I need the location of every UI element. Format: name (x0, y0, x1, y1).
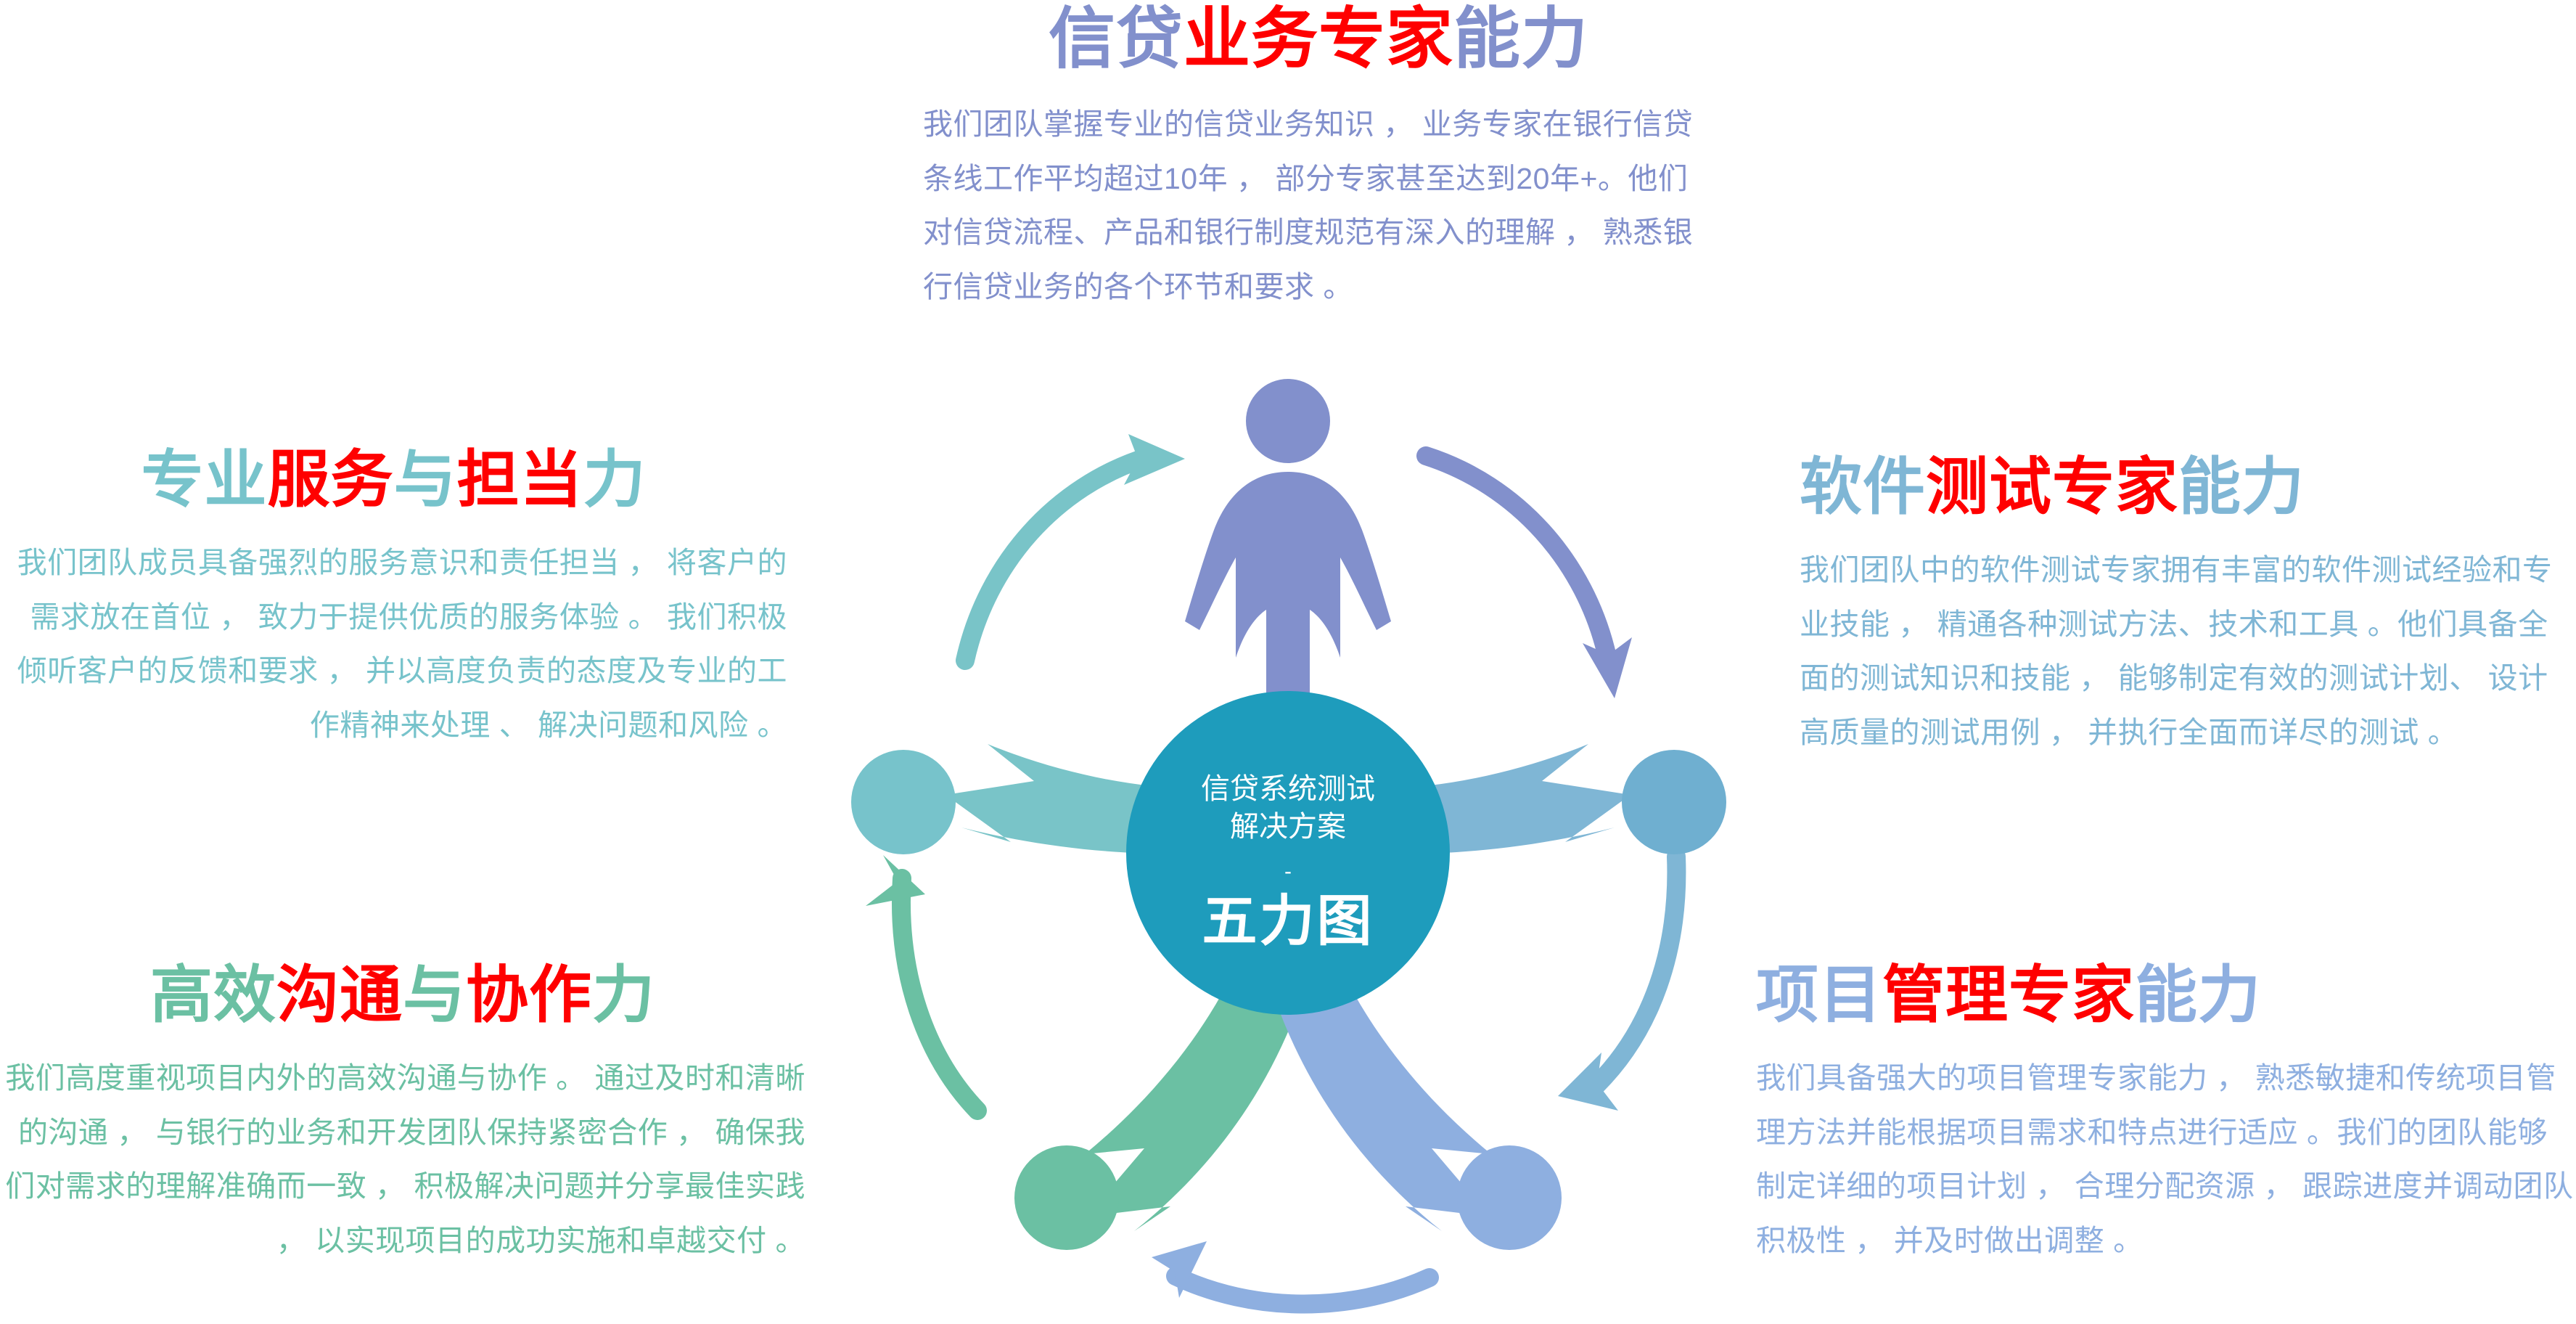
heading-professional-service: 专业服务与担当力 (0, 449, 787, 511)
heading-software-testing-expertise: 软件测试专家能力 (1800, 456, 2576, 518)
heading-segment-2: 能力 (1453, 2, 1588, 76)
hub-separator: - (1284, 859, 1292, 883)
heading-segment-3: 协作 (466, 960, 592, 1030)
heading-segment-4: 力 (592, 960, 655, 1030)
block-communication-collaboration: 高效沟通与协作力 我们高度重视项目内外的高效沟通与协作 。 通过及时和清晰的沟通… (0, 964, 805, 1267)
block-professional-service: 专业服务与担当力 我们团队成员具备强烈的服务意识和责任担当 ， 将客户的需求放在… (0, 449, 787, 752)
heading-segment-2: 能力 (2135, 960, 2261, 1030)
hub-title: 五力图 (1202, 891, 1374, 952)
infographic-canvas: 信贷系统测试 解决方案 - 五力图 信贷业务专家能力 我们团队掌握专业的信贷业务… (0, 0, 2576, 1324)
outer-arrow-left-to-top (965, 434, 1185, 661)
heading-segment-1: 服务 (268, 445, 394, 515)
outer-arrow-top-to-right (1426, 456, 1632, 698)
heading-segment-3: 担当 (457, 445, 583, 515)
heading-segment-0: 项目 (1756, 960, 1882, 1030)
node-right-circle (1622, 750, 1726, 854)
block-software-testing-expertise: 软件测试专家能力 我们团队中的软件测试专家拥有丰富的软件测试经验和专业技能 ， … (1800, 456, 2576, 759)
five-forces-diagram: 信贷系统测试 解决方案 - 五力图 (816, 377, 1760, 1321)
node-bottomright-circle (1457, 1145, 1562, 1250)
node-bottomleft-circle (1014, 1145, 1119, 1250)
heading-segment-1: 业务专家 (1184, 2, 1453, 76)
heading-segment-4: 力 (583, 445, 647, 515)
block-credit-business-expertise: 信贷业务专家能力 我们团队掌握专业的信贷业务知识 ， 业务专家在银行信贷条线工作… (923, 6, 1714, 314)
heading-segment-0: 信贷 (1049, 2, 1184, 76)
heading-segment-2: 与 (394, 445, 457, 515)
body-credit-business-expertise: 我们团队掌握专业的信贷业务知识 ， 业务专家在银行信贷条线工作平均超过10年 ，… (923, 97, 1714, 314)
body-communication-collaboration: 我们高度重视项目内外的高效沟通与协作 。 通过及时和清晰的沟通 ， 与银行的业务… (0, 1051, 805, 1267)
body-professional-service: 我们团队成员具备强烈的服务意识和责任担当 ， 将客户的需求放在首位 ， 致力于提… (0, 536, 787, 752)
hub-circle (1126, 691, 1450, 1015)
heading-segment-2: 与 (403, 960, 466, 1030)
heading-segment-0: 高效 (150, 960, 276, 1030)
heading-segment-1: 测试专家 (1926, 452, 2178, 522)
outer-arrow-right-to-bottomright (1558, 857, 1676, 1111)
heading-segment-1: 沟通 (276, 960, 403, 1030)
outer-arrow-bottomright-to-bottomleft (1152, 1241, 1429, 1304)
heading-segment-2: 能力 (2178, 452, 2305, 522)
heading-project-management-expertise: 项目管理专家能力 (1756, 964, 2576, 1026)
heading-credit-business-expertise: 信贷业务专家能力 (923, 6, 1714, 73)
outer-arrow-bottomleft-to-left (866, 855, 977, 1111)
node-left-circle (851, 750, 956, 854)
block-project-management-expertise: 项目管理专家能力 我们具备强大的项目管理专家能力 ， 熟悉敏捷和传统项目管理方法… (1756, 964, 2576, 1267)
body-project-management-expertise: 我们具备强大的项目管理专家能力 ， 熟悉敏捷和传统项目管理方法并能根据项目需求和… (1756, 1051, 2576, 1267)
hub-line1: 信贷系统测试 (1201, 773, 1375, 805)
hub-line2: 解决方案 (1230, 811, 1346, 843)
heading-segment-0: 专业 (141, 445, 268, 515)
body-software-testing-expertise: 我们团队中的软件测试专家拥有丰富的软件测试经验和专业技能 ， 精通各种测试方法、… (1800, 543, 2576, 759)
heading-segment-0: 软件 (1800, 452, 1926, 522)
heading-segment-1: 管理专家 (1882, 960, 2135, 1030)
heading-communication-collaboration: 高效沟通与协作力 (0, 964, 805, 1026)
